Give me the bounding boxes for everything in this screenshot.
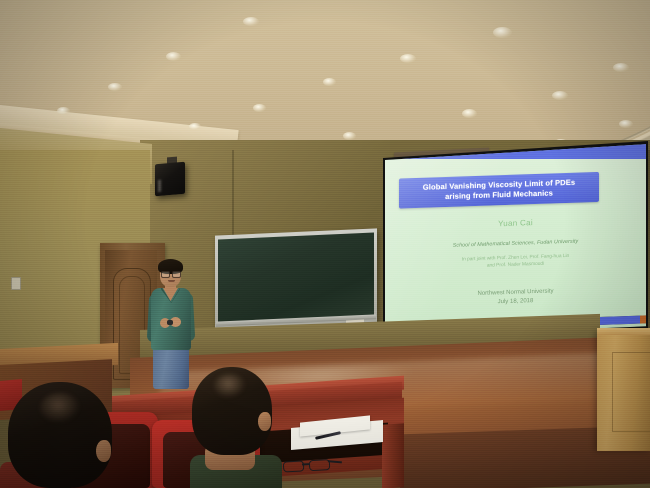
slide-content: Global Vanishing Viscosity Limit of PDEs…	[385, 143, 646, 327]
audience-center-scalp-highlight	[214, 374, 246, 398]
slide-title-banner: Global Vanishing Viscosity Limit of PDEs…	[399, 172, 599, 209]
slide-affiliation: School of Mathematical Sciences, Fudan U…	[385, 236, 646, 251]
downlight-icon	[323, 78, 336, 86]
downlight-icon	[613, 63, 629, 72]
light-switch[interactable]	[11, 277, 21, 290]
slide-author: Yuan Cai	[385, 214, 646, 232]
downlight-icon	[343, 132, 356, 140]
slide-venue-block: Northwest Normal University July 18, 201…	[385, 284, 646, 310]
downlight-icon	[619, 120, 633, 128]
audience-center-ear	[258, 412, 271, 431]
downlight-icon	[400, 54, 416, 63]
audience-left-scalp-highlight	[40, 393, 80, 423]
downlight-icon	[189, 123, 201, 130]
presenter-jeans	[153, 347, 189, 389]
presenter-glasses-icon	[161, 271, 180, 276]
downlight-icon	[57, 107, 70, 115]
speaker-highlight	[158, 180, 161, 192]
lecture-hall-photo: Northwest Normal University Global Vanis…	[0, 0, 650, 488]
presenter-glasses-lens-right	[172, 271, 181, 278]
slide-footer-page-marker	[640, 315, 646, 323]
slide-title-line-2: arising from Fluid Mechanics	[445, 188, 553, 202]
downlight-icon	[166, 52, 181, 61]
downlight-icon	[552, 91, 568, 100]
audience-left-ear	[96, 440, 111, 462]
eyeglasses-bridge	[302, 463, 309, 465]
downlight-icon	[493, 27, 512, 38]
wall-speaker-icon	[155, 162, 185, 197]
podium-front-panel	[612, 352, 650, 432]
presenter-glasses-lens-left	[161, 271, 170, 278]
downlight-icon	[462, 109, 477, 118]
eyeglasses-lens-left	[283, 460, 305, 472]
downlight-icon	[243, 17, 259, 26]
presenter-held-remote	[167, 320, 173, 325]
chalkboard-surface[interactable]	[218, 232, 374, 323]
downlight-icon	[253, 104, 266, 112]
screen-surface: Global Vanishing Viscosity Limit of PDEs…	[385, 143, 646, 339]
front-desk-side-panel	[382, 423, 404, 488]
presenter-mouth	[168, 280, 175, 282]
projection-screen: Global Vanishing Viscosity Limit of PDEs…	[383, 141, 648, 341]
slide-joint-work: In part joint with Prof. Zhen Lei, Prof.…	[385, 251, 646, 273]
podium-top-surface	[597, 328, 650, 335]
downlight-icon	[108, 83, 122, 91]
